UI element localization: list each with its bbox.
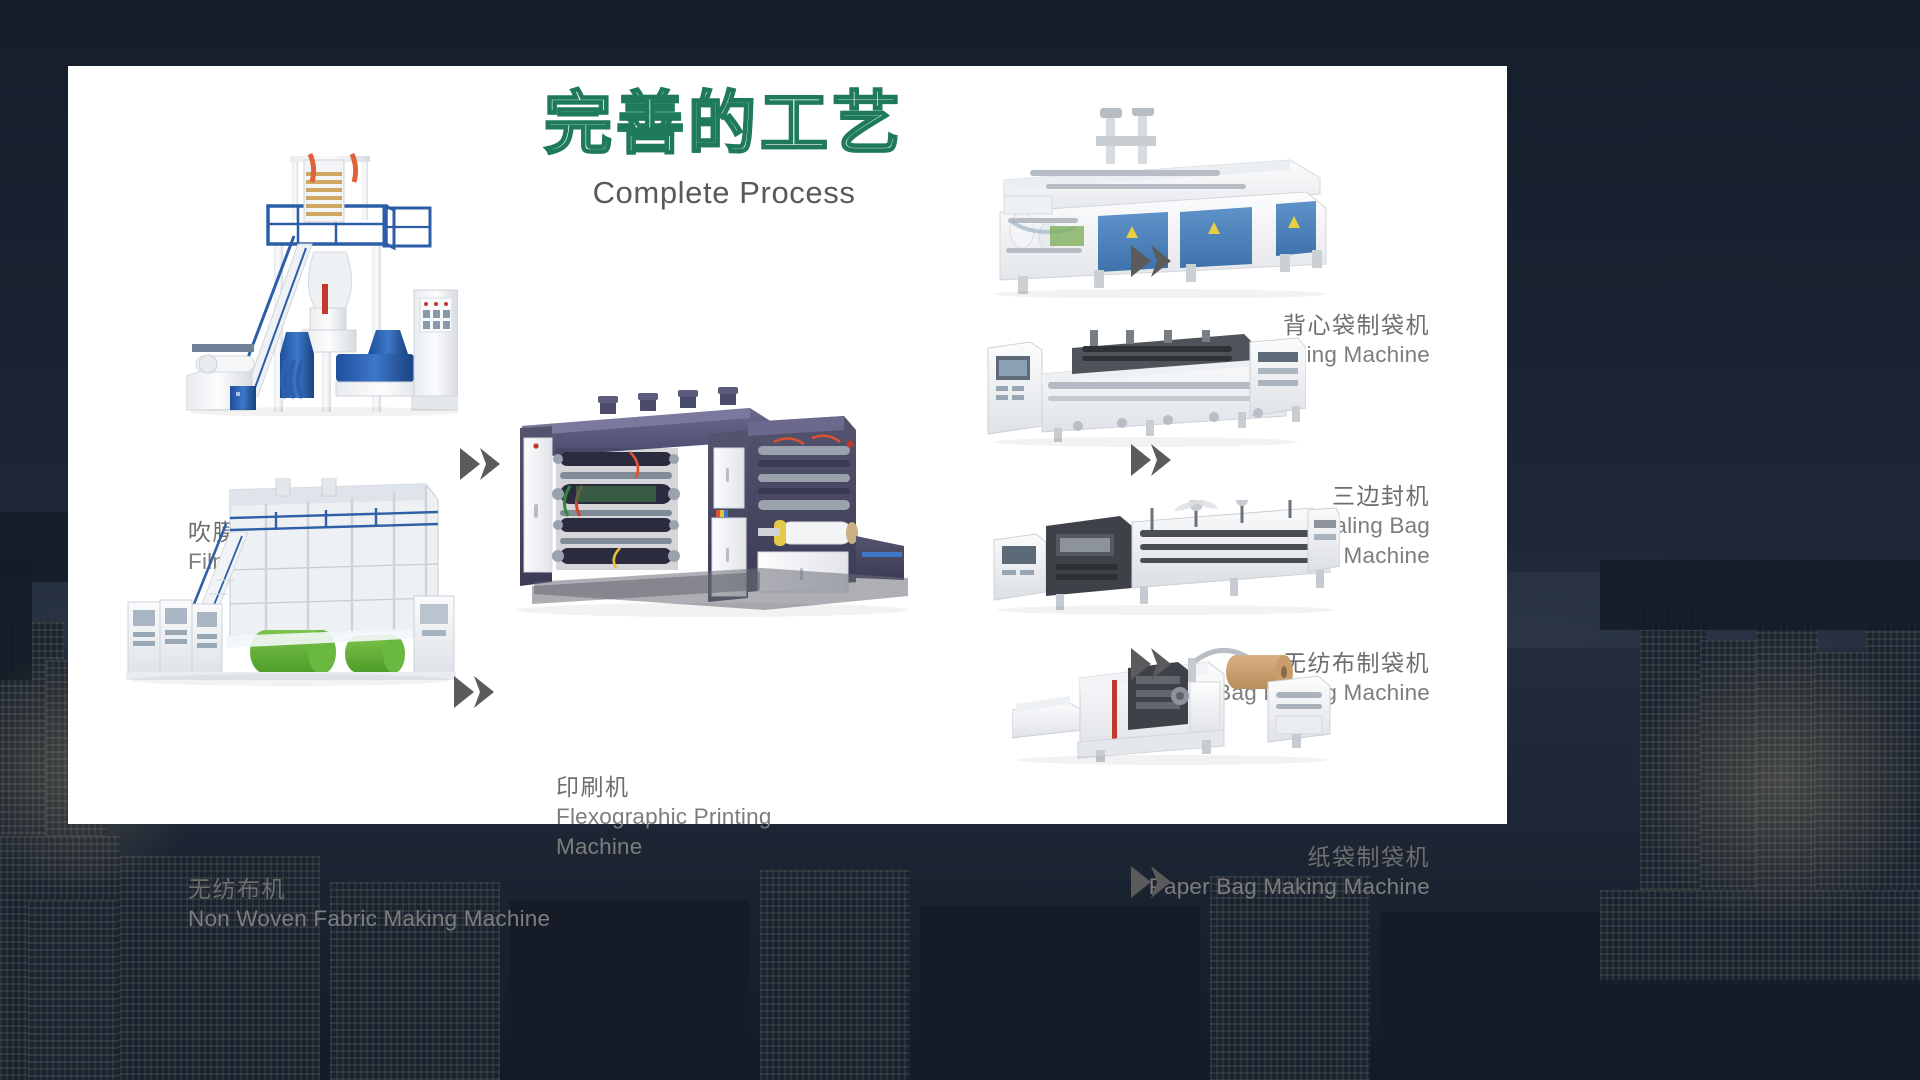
stage-label-paper-bag: 纸袋制袋机 Paper Bag Making Machine bbox=[1000, 842, 1430, 902]
flexographic-printing-machine-photo bbox=[512, 386, 916, 622]
stage-label-en-line2: Machine bbox=[556, 832, 772, 862]
non-woven-fabric-making-machine-photo bbox=[126, 478, 456, 690]
double-chevron-right-icon bbox=[458, 444, 504, 484]
stage-label-non-woven-fabric: 无纺布机 Non Woven Fabric Making Machine bbox=[188, 874, 550, 934]
building bbox=[1600, 890, 1920, 986]
stage-label-flexo-printing: 印刷机 Flexographic Printing Machine bbox=[556, 772, 772, 862]
building bbox=[920, 906, 1200, 1080]
double-chevron-right-icon bbox=[1129, 862, 1175, 902]
building bbox=[1640, 608, 1706, 908]
flow-arrow-to-printing-from-film-blowing bbox=[458, 444, 504, 484]
building bbox=[1756, 618, 1818, 910]
flow-arrow-to-non-woven-bag bbox=[1129, 644, 1175, 684]
film-blowing-machine-photo bbox=[186, 148, 458, 416]
building bbox=[1600, 560, 1920, 630]
flow-arrow-to-printing-from-non-woven bbox=[452, 672, 498, 712]
building bbox=[1210, 876, 1370, 1080]
flow-arrow-to-vest-bag bbox=[1129, 241, 1175, 281]
flow-arrow-to-paper-bag bbox=[1129, 862, 1175, 902]
title-block: 完善的工艺 Complete Process bbox=[524, 88, 924, 211]
double-chevron-right-icon bbox=[1129, 644, 1175, 684]
building bbox=[1560, 980, 1920, 1080]
non-woven-bag-making-machine-photo bbox=[990, 500, 1340, 620]
stage-label-cn: 无纺布机 bbox=[188, 874, 550, 904]
stage-label-en: Non Woven Fabric Making Machine bbox=[188, 904, 550, 934]
three-side-sealing-bag-making-machine-photo bbox=[986, 330, 1306, 450]
building bbox=[1814, 652, 1870, 908]
double-chevron-right-icon bbox=[452, 672, 498, 712]
page-title-en: Complete Process bbox=[524, 175, 924, 211]
stage-label-en-line1: Paper Bag Making Machine bbox=[1000, 872, 1430, 902]
stage-label-cn: 纸袋制袋机 bbox=[1000, 842, 1430, 872]
building bbox=[1700, 640, 1758, 908]
building bbox=[28, 900, 118, 1080]
stage-label-en-line1: Flexographic Printing bbox=[556, 802, 772, 832]
stage-label-cn: 印刷机 bbox=[556, 772, 772, 802]
building bbox=[1866, 624, 1920, 910]
double-chevron-right-icon bbox=[1129, 440, 1175, 480]
building bbox=[760, 870, 910, 1080]
double-chevron-right-icon bbox=[1129, 241, 1175, 281]
page-title-cn: 完善的工艺 bbox=[524, 88, 924, 161]
flow-arrow-to-three-side-sealing bbox=[1129, 440, 1175, 480]
